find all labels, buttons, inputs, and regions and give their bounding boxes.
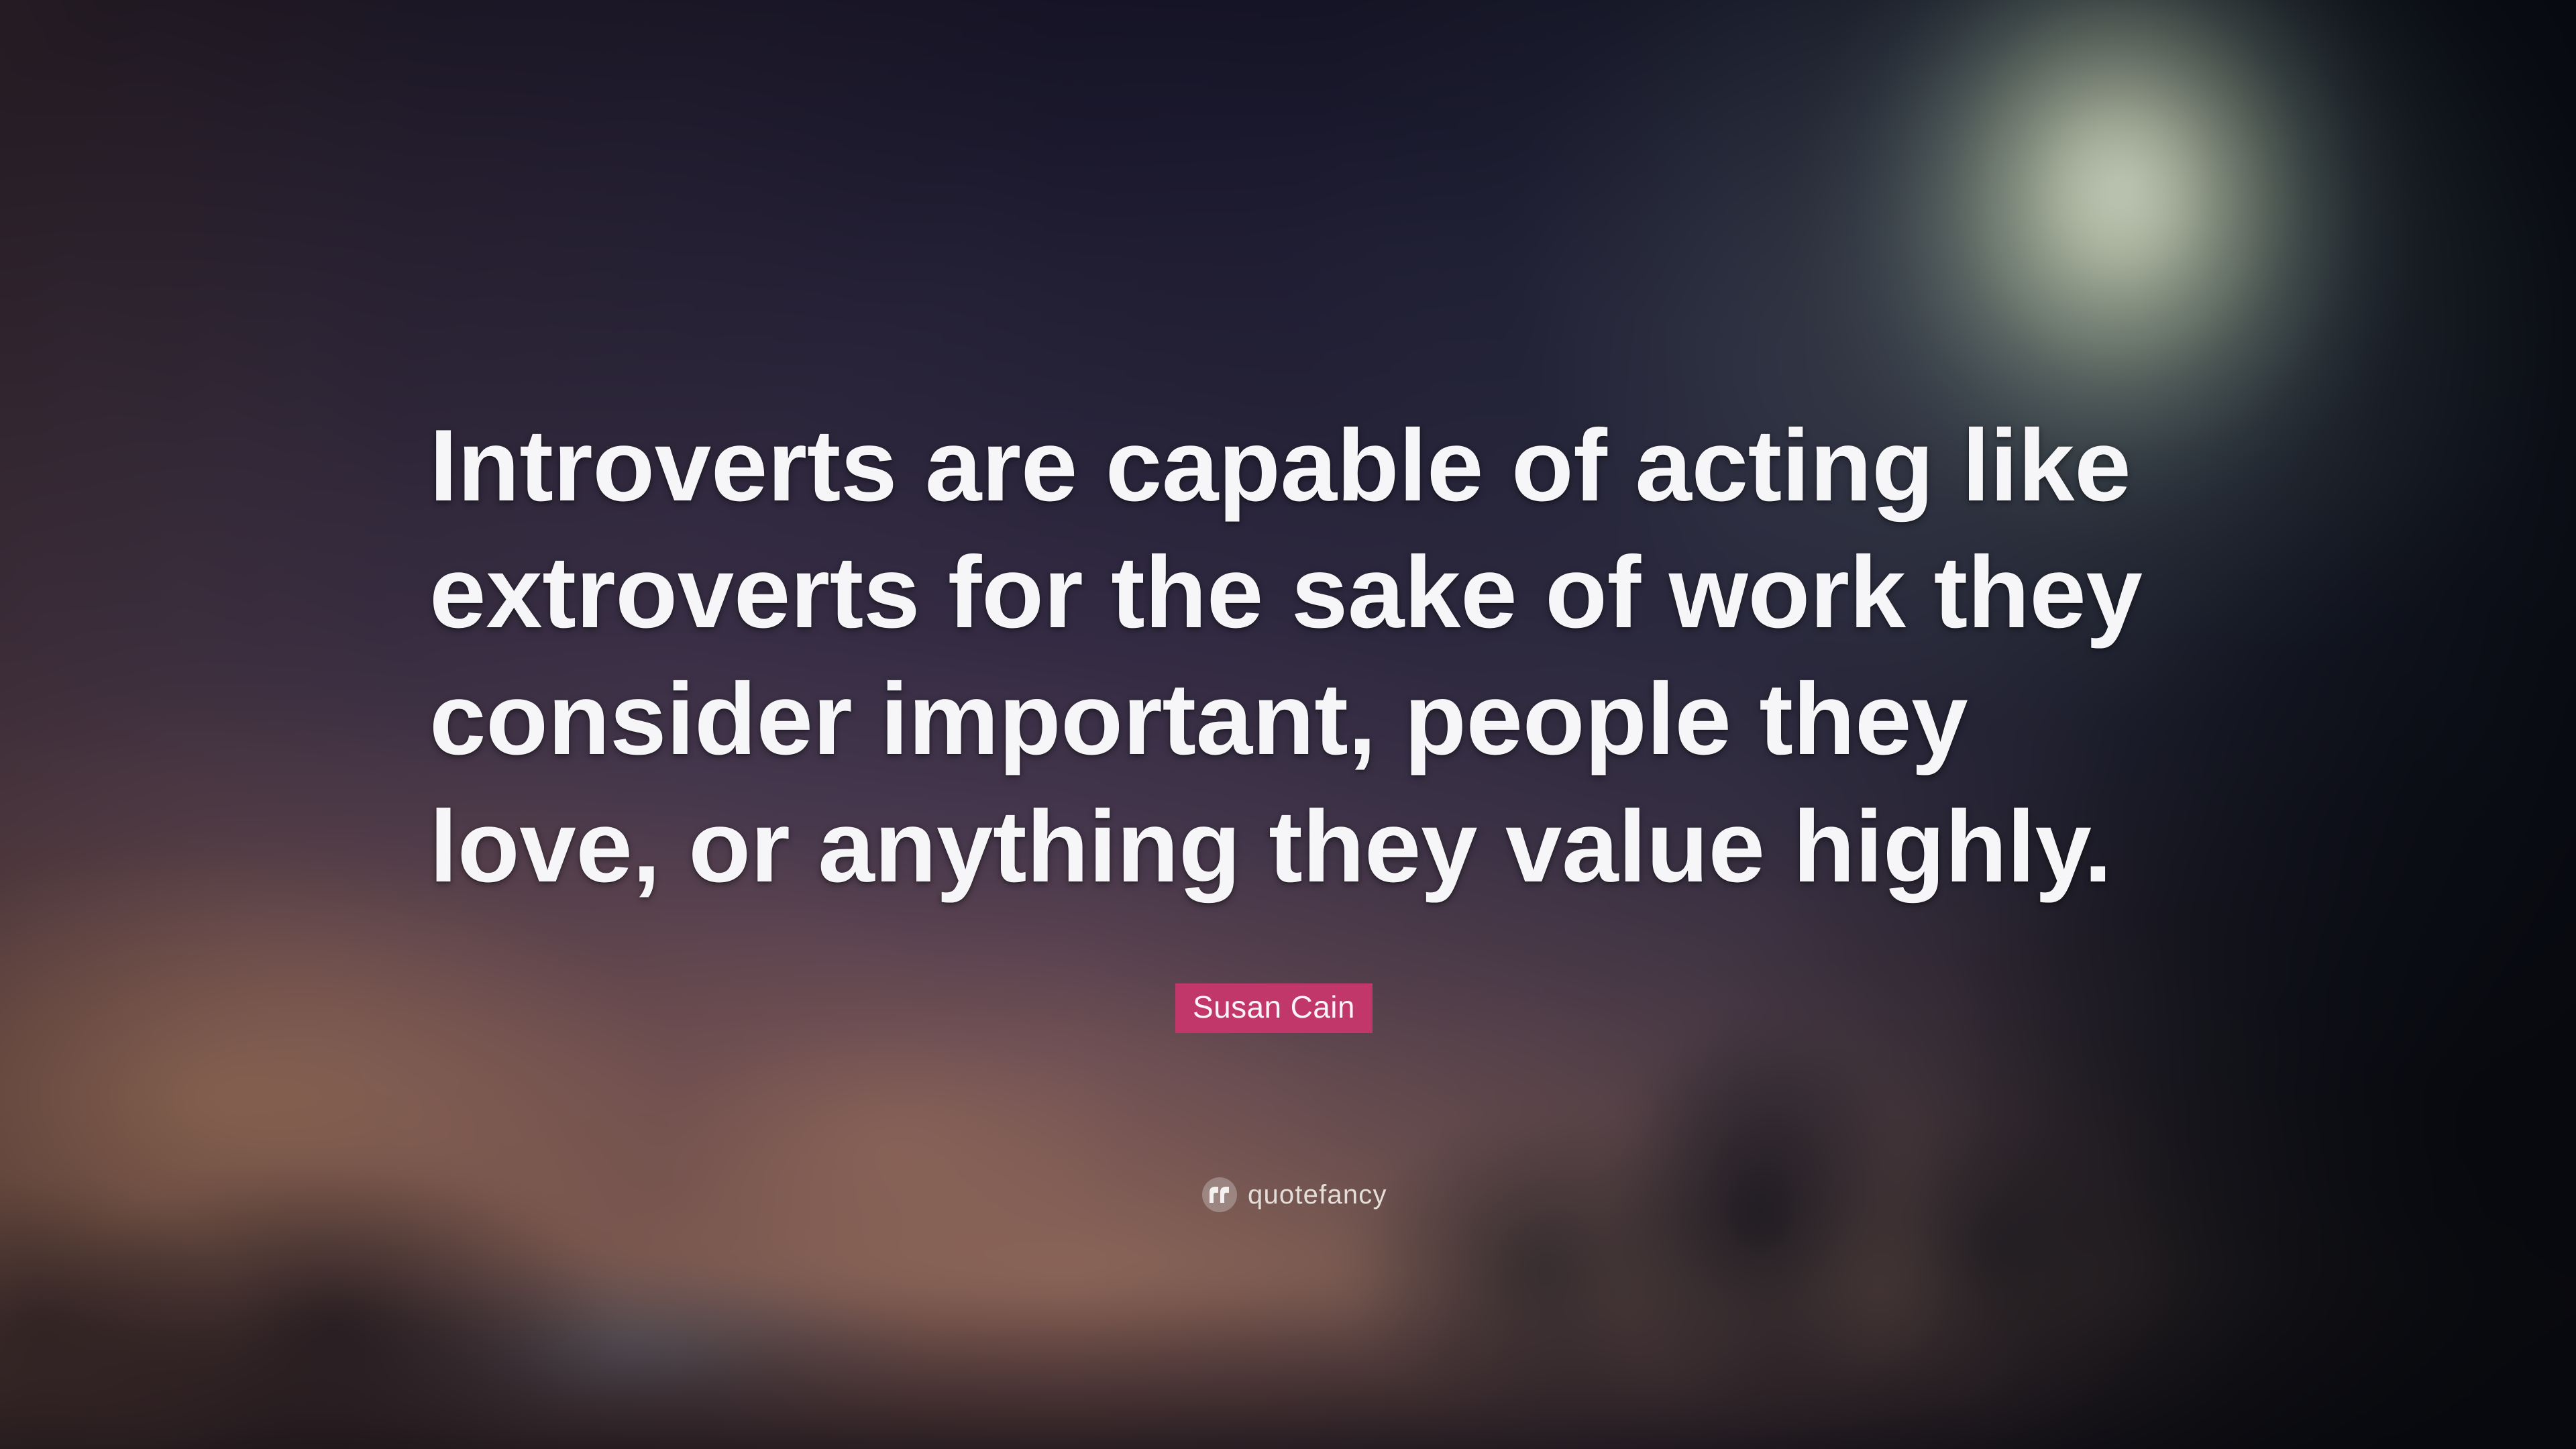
quote-line-3: consider important, people they xyxy=(429,656,2173,783)
quotefancy-watermark[interactable]: quotefancy xyxy=(1202,1177,1387,1212)
quote-line-1: Introverts are capable of acting like xyxy=(429,402,2173,529)
quote-mark-icon xyxy=(1202,1177,1237,1212)
quote-text: Introverts are capable of acting like ex… xyxy=(429,402,2173,910)
quote-line-4: love, or anything they value highly. xyxy=(429,784,2173,910)
quote-wallpaper: Introverts are capable of acting like ex… xyxy=(0,0,2576,1449)
foreground-content: Introverts are capable of acting like ex… xyxy=(0,0,2576,1449)
quote-line-2: extroverts for the sake of work they xyxy=(429,529,2173,656)
author-badge: Susan Cain xyxy=(1175,983,1373,1033)
quotefancy-label: quotefancy xyxy=(1248,1181,1387,1208)
